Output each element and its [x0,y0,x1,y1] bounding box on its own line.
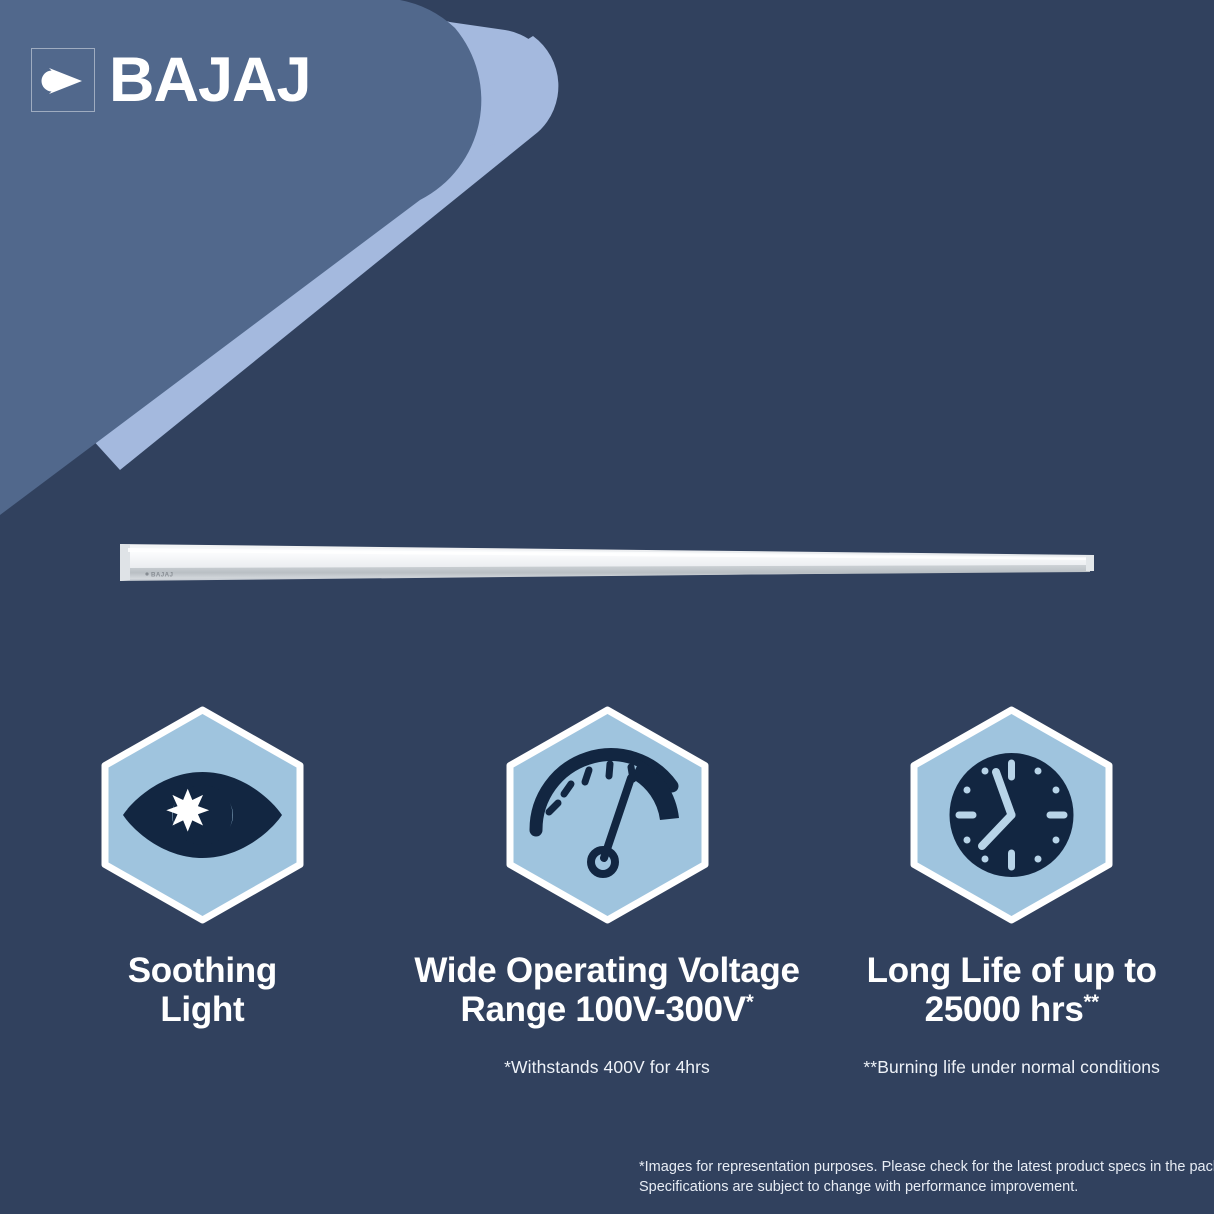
feature-footnote: **Burning life under normal conditions [863,1057,1160,1079]
disclaimer-text: *Images for representation purposes. Ple… [639,1158,1184,1197]
feature-item-long-life: Long Life of up to 25000 hrs** **Burning… [809,706,1214,1079]
feature-title: Wide Operating Voltage Range 100V-300V* [414,952,799,1029]
brand-wordmark: BAJAJ [109,49,311,112]
voltage-gauge-icon [500,706,715,924]
poster-canvas: BAJAJ BAJAJ [0,0,1214,1214]
disclaimer-line-1: *Images for representation purposes. Ple… [639,1158,1184,1178]
clock-icon [904,706,1119,924]
eye-sparkle-icon [95,706,310,924]
bajaj-arrow-mark-icon [31,48,95,112]
disclaimer-line-2: Specifications are subject to change wit… [639,1178,1184,1198]
svg-text:BAJAJ: BAJAJ [151,571,173,578]
brand-logo: BAJAJ [31,48,311,112]
product-image: BAJAJ [118,531,1096,586]
feature-list: Soothing Light [0,706,1214,1079]
feature-item-voltage-range: Wide Operating Voltage Range 100V-300V* … [405,706,810,1079]
feature-footnote: *Withstands 400V for 4hrs [504,1057,710,1079]
feature-title: Long Life of up to 25000 hrs** [867,952,1157,1029]
feature-item-soothing-light: Soothing Light [0,706,405,1079]
feature-title: Soothing Light [128,952,277,1029]
